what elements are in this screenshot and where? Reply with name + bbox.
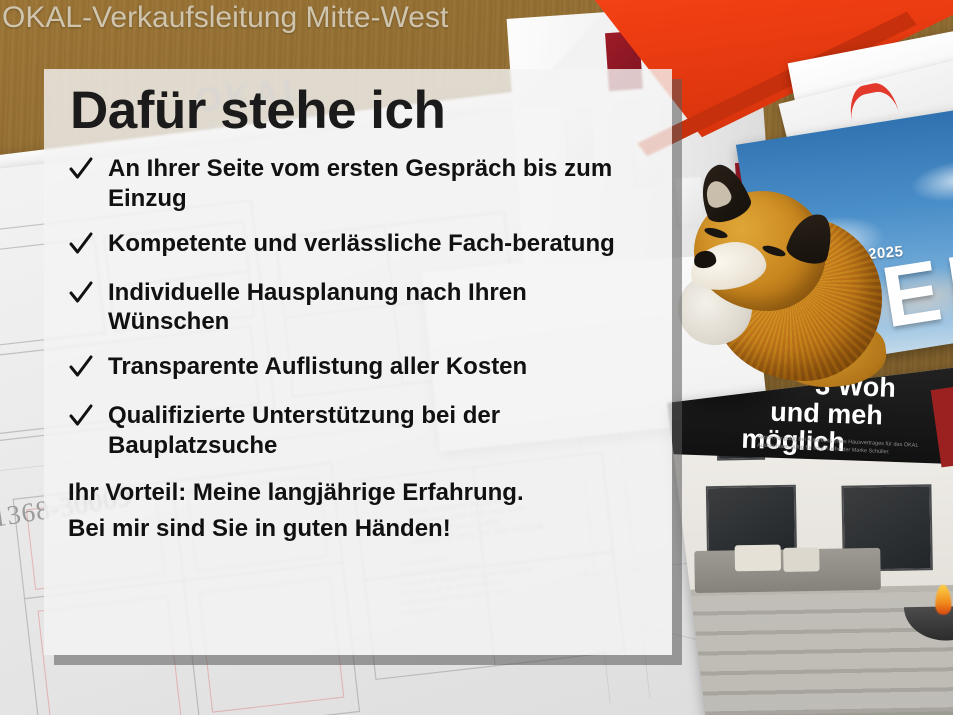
list-item-label: An Ihrer Seite vom ersten Gespräch bis z…: [108, 154, 648, 213]
list-item: An Ihrer Seite vom ersten Gespräch bis z…: [68, 154, 654, 213]
terrace-cushion-2: [783, 547, 819, 572]
terrace-fine-print: Aktion nur gültig bei Abschluss eines Ha…: [757, 433, 948, 459]
slide-canvas: 1368-30009 Datum: Unterschrift Bauherren…: [0, 0, 953, 715]
content-panel: Dafür stehe ich An Ihrer Seite vom erste…: [44, 69, 672, 655]
benefits-list: An Ihrer Seite vom ersten Gespräch bis z…: [58, 154, 654, 460]
list-item-label: Individuelle Hausplanung nach Ihren Wüns…: [108, 278, 648, 337]
list-item: Transparente Auflistung aller Kosten: [68, 352, 654, 385]
check-icon: [68, 231, 94, 262]
closing-statement: Ihr Vorteil: Meine langjährige Erfahrung…: [58, 478, 654, 544]
brochure-terrace-photo: 3 Woh und meh möglich Aktion nur gültig …: [667, 364, 953, 715]
plush-fox-figurine: [672, 155, 892, 385]
list-item: Qualifizierte Unterstützung bei der Baup…: [68, 401, 654, 460]
check-icon: [68, 280, 94, 311]
check-icon: [68, 354, 94, 385]
closing-line-1: Ihr Vorteil: Meine langjährige Erfahrung…: [68, 478, 654, 508]
terrace-cushion-1: [735, 545, 781, 572]
closing-line-2: Bei mir sind Sie in guten Händen!: [68, 514, 654, 544]
list-item: Individuelle Hausplanung nach Ihren Wüns…: [68, 278, 654, 337]
header-title: OKAL-Verkaufsleitung Mitte-West: [2, 1, 448, 35]
page-title: Dafür stehe ich: [58, 81, 654, 140]
check-icon: [68, 403, 94, 434]
list-item: Kompetente und verlässliche Fach-beratun…: [68, 229, 654, 262]
list-item-label: Qualifizierte Unterstützung bei der Baup…: [108, 401, 648, 460]
list-item-label: Transparente Auflistung aller Kosten: [108, 352, 527, 381]
list-item-label: Kompetente und verlässliche Fach-beratun…: [108, 229, 615, 258]
check-icon: [68, 156, 94, 187]
